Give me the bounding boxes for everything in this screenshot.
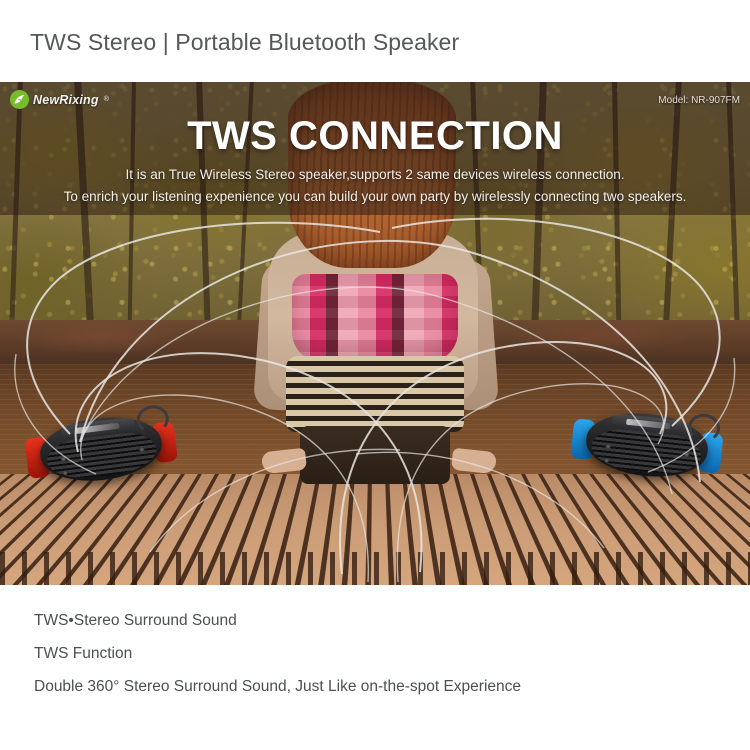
hero-headline: TWS CONNECTION xyxy=(0,114,750,159)
hero-subline-2: To enrich your listening expenience you … xyxy=(0,189,750,204)
model-number: Model: NR-907FM xyxy=(658,95,740,106)
feature-item: TWS Function xyxy=(34,645,724,663)
page-title: TWS Stereo | Portable Bluetooth Speaker xyxy=(30,29,459,56)
feature-item: TWS•Stereo Surround Sound xyxy=(34,612,724,630)
feature-list: TWS•Stereo Surround Sound TWS Function D… xyxy=(34,612,724,711)
brand-logo: NewRixing ® xyxy=(10,90,109,109)
feature-item: Double 360° Stereo Surround Sound, Just … xyxy=(34,678,724,696)
hero-subline-1: It is an True Wireless Stereo speaker,su… xyxy=(0,167,750,182)
hero-text-overlay: NewRixing ® Model: NR-907FM TWS CONNECTI… xyxy=(0,82,750,215)
newrixing-leaf-icon xyxy=(10,90,29,109)
brand-name: NewRixing xyxy=(33,93,99,107)
registered-trademark-icon: ® xyxy=(104,96,109,103)
hero-banner-image: NewRixing ® Model: NR-907FM TWS CONNECTI… xyxy=(0,82,750,585)
